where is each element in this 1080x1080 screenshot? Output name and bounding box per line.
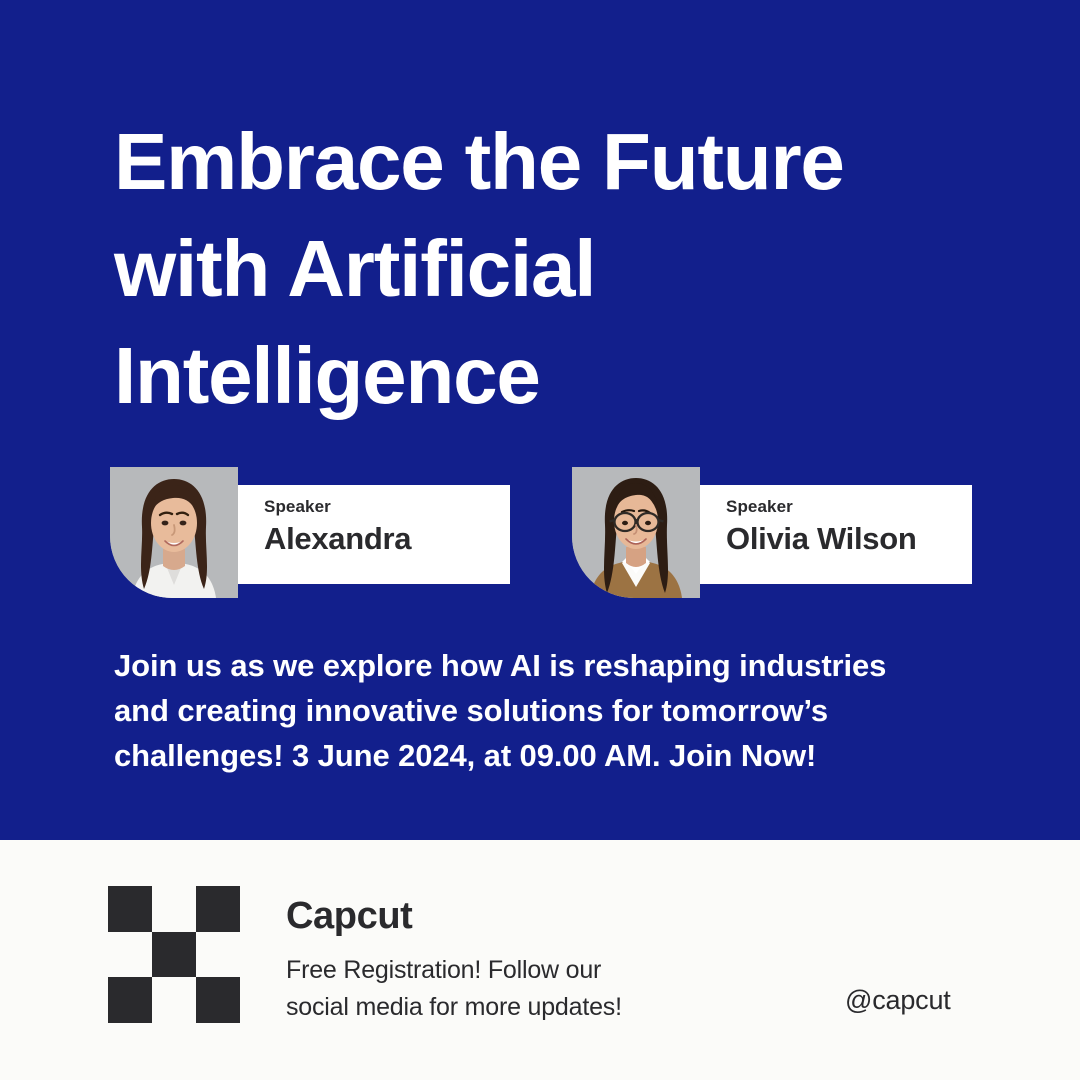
page-title: Embrace the Future with Artificial Intel… (114, 108, 994, 429)
speaker-role-label: Speaker (726, 497, 972, 517)
social-handle: @capcut (845, 985, 951, 1016)
speaker-info: Speaker Olivia Wilson (700, 485, 972, 584)
logo-cell (108, 886, 152, 932)
speaker-name: Alexandra (264, 517, 510, 561)
speaker-list: Speaker Alexandra (110, 467, 975, 598)
logo-cell (196, 886, 240, 932)
speaker-name: Olivia Wilson (726, 517, 972, 561)
avatar (110, 467, 238, 598)
speaker-card: Speaker Olivia Wilson (572, 467, 972, 598)
poster-canvas: Embrace the Future with Artificial Intel… (0, 0, 1080, 1080)
logo-cell (196, 977, 240, 1023)
speaker-info: Speaker Alexandra (238, 485, 510, 584)
speaker-role-label: Speaker (264, 497, 510, 517)
logo-cell (108, 932, 152, 978)
brand-name: Capcut (286, 893, 766, 939)
brand-logo-icon (108, 886, 240, 1023)
logo-cell (152, 932, 196, 978)
logo-cell (152, 886, 196, 932)
logo-cell (152, 977, 196, 1023)
avatar (572, 467, 700, 598)
footer-tagline: Free Registration! Follow our social med… (286, 952, 766, 1026)
logo-cell (108, 977, 152, 1023)
logo-cell (196, 932, 240, 978)
event-description: Join us as we explore how AI is reshapin… (114, 643, 994, 778)
footer-text-block: Capcut Free Registration! Follow our soc… (286, 893, 766, 1026)
speaker-card: Speaker Alexandra (110, 467, 510, 598)
